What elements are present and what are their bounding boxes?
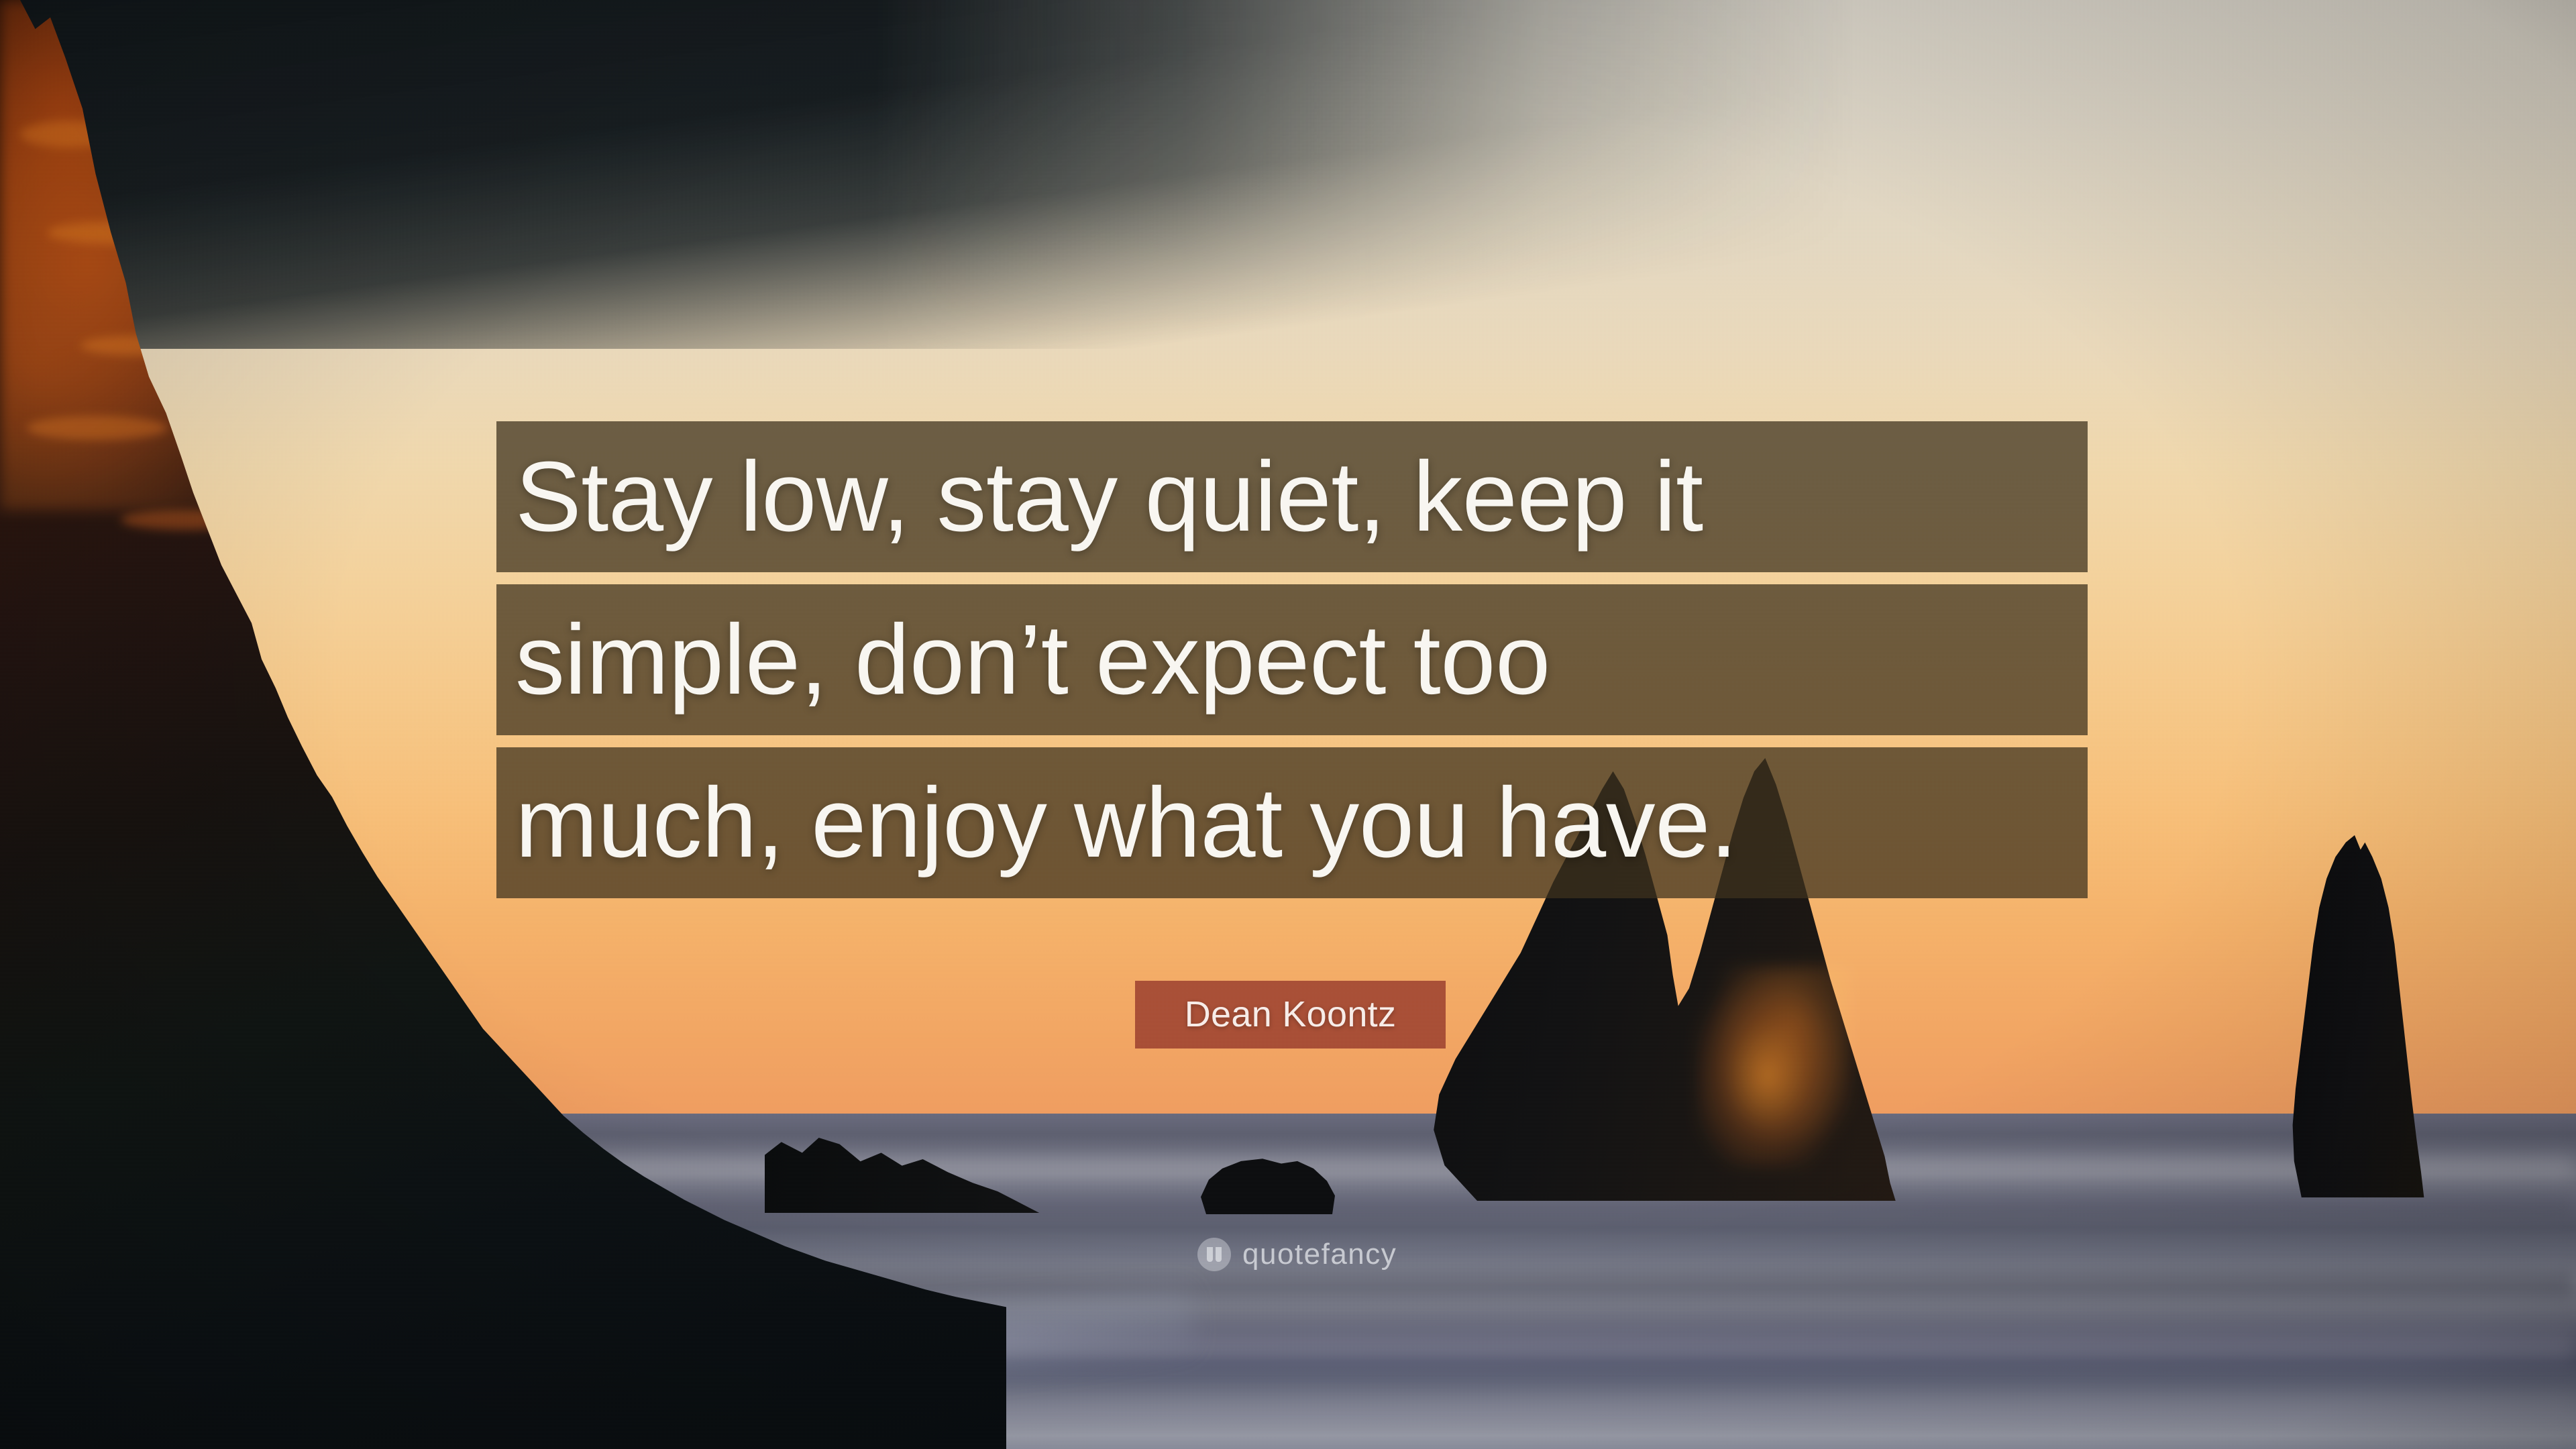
watermark-brand-label: quotefancy [1242,1238,1397,1271]
quote-mark-icon [1197,1238,1231,1271]
quote-line: much, enjoy what you have. [496,747,2088,898]
wallpaper-canvas: Stay low, stay quiet, keep it simple, do… [0,0,2576,1449]
quote-text-block: Stay low, stay quiet, keep it simple, do… [496,421,2088,898]
quotefancy-watermark: quotefancy [1197,1238,1397,1271]
author-attribution-badge: Dean Koontz [1135,981,1446,1049]
black-sand-beach [0,0,2576,349]
sea-stack-sunlight-glow [1697,966,1851,1167]
cliff-light-streak [27,416,168,440]
quote-line: Stay low, stay quiet, keep it [496,421,2088,572]
quote-line: simple, don’t expect too [496,584,2088,735]
